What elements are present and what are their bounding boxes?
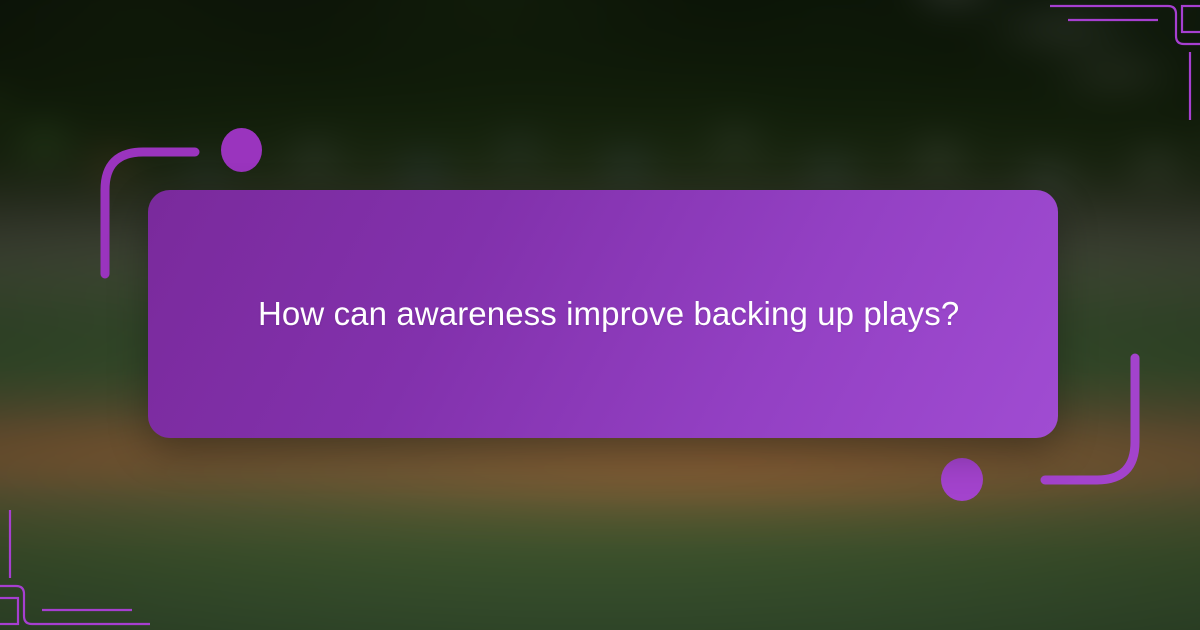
accent-dot-bottom-icon	[941, 458, 983, 501]
question-card-banner: How can awareness improve backing up pla…	[0, 0, 1200, 630]
question-text: How can awareness improve backing up pla…	[258, 288, 959, 340]
question-card: How can awareness improve backing up pla…	[148, 190, 1058, 438]
accent-dot-top-icon	[221, 128, 262, 172]
